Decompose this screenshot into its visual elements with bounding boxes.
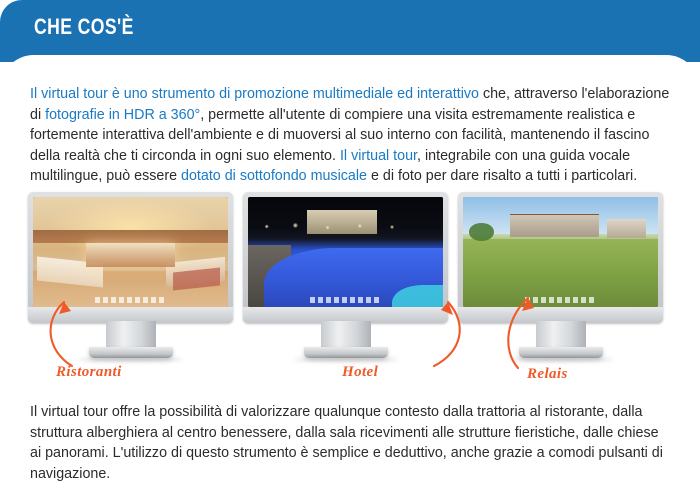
intro-paragraph: Il virtual tour è uno strumento di promo… bbox=[30, 84, 670, 187]
intro-highlight-2: fotografie in HDR a 360° bbox=[45, 107, 200, 123]
intro-highlight-3: Il virtual tour bbox=[340, 148, 417, 164]
hotel-night-lights bbox=[256, 221, 435, 232]
showcase-label-relais: Relais bbox=[527, 366, 568, 383]
relais-building bbox=[510, 215, 600, 237]
showcase-label-hotel: Hotel bbox=[342, 364, 378, 381]
outro-paragraph: Il virtual tour offre la possibilità di … bbox=[30, 402, 670, 484]
intro-highlight-1: Il virtual tour è uno strumento di promo… bbox=[30, 86, 479, 102]
relais-tree bbox=[469, 223, 494, 241]
header-band: CHE COS'È bbox=[0, 0, 700, 62]
showcase-label-ristoranti: Ristoranti bbox=[56, 364, 122, 381]
restaurant-photo bbox=[33, 197, 228, 307]
page-title: CHE COS'È bbox=[34, 14, 134, 40]
tour-thumbnail-strip[interactable] bbox=[310, 297, 382, 303]
relais-building-secondary bbox=[607, 219, 646, 238]
intro-text-4: e di foto per dare risalto a tutti i par… bbox=[367, 168, 637, 184]
callout-arrow-hotel bbox=[392, 290, 478, 370]
virtual-tour-info-panel: CHE COS'È Il virtual tour è uno strument… bbox=[0, 0, 700, 500]
monitor-screen[interactable] bbox=[33, 197, 228, 307]
callout-arrow-ristoranti bbox=[40, 292, 120, 370]
monitor-shadow bbox=[294, 357, 398, 362]
intro-highlight-4: dotato di sottofondo musicale bbox=[181, 168, 367, 184]
monitor-neck bbox=[321, 321, 371, 349]
callout-arrow-relais bbox=[498, 288, 588, 372]
